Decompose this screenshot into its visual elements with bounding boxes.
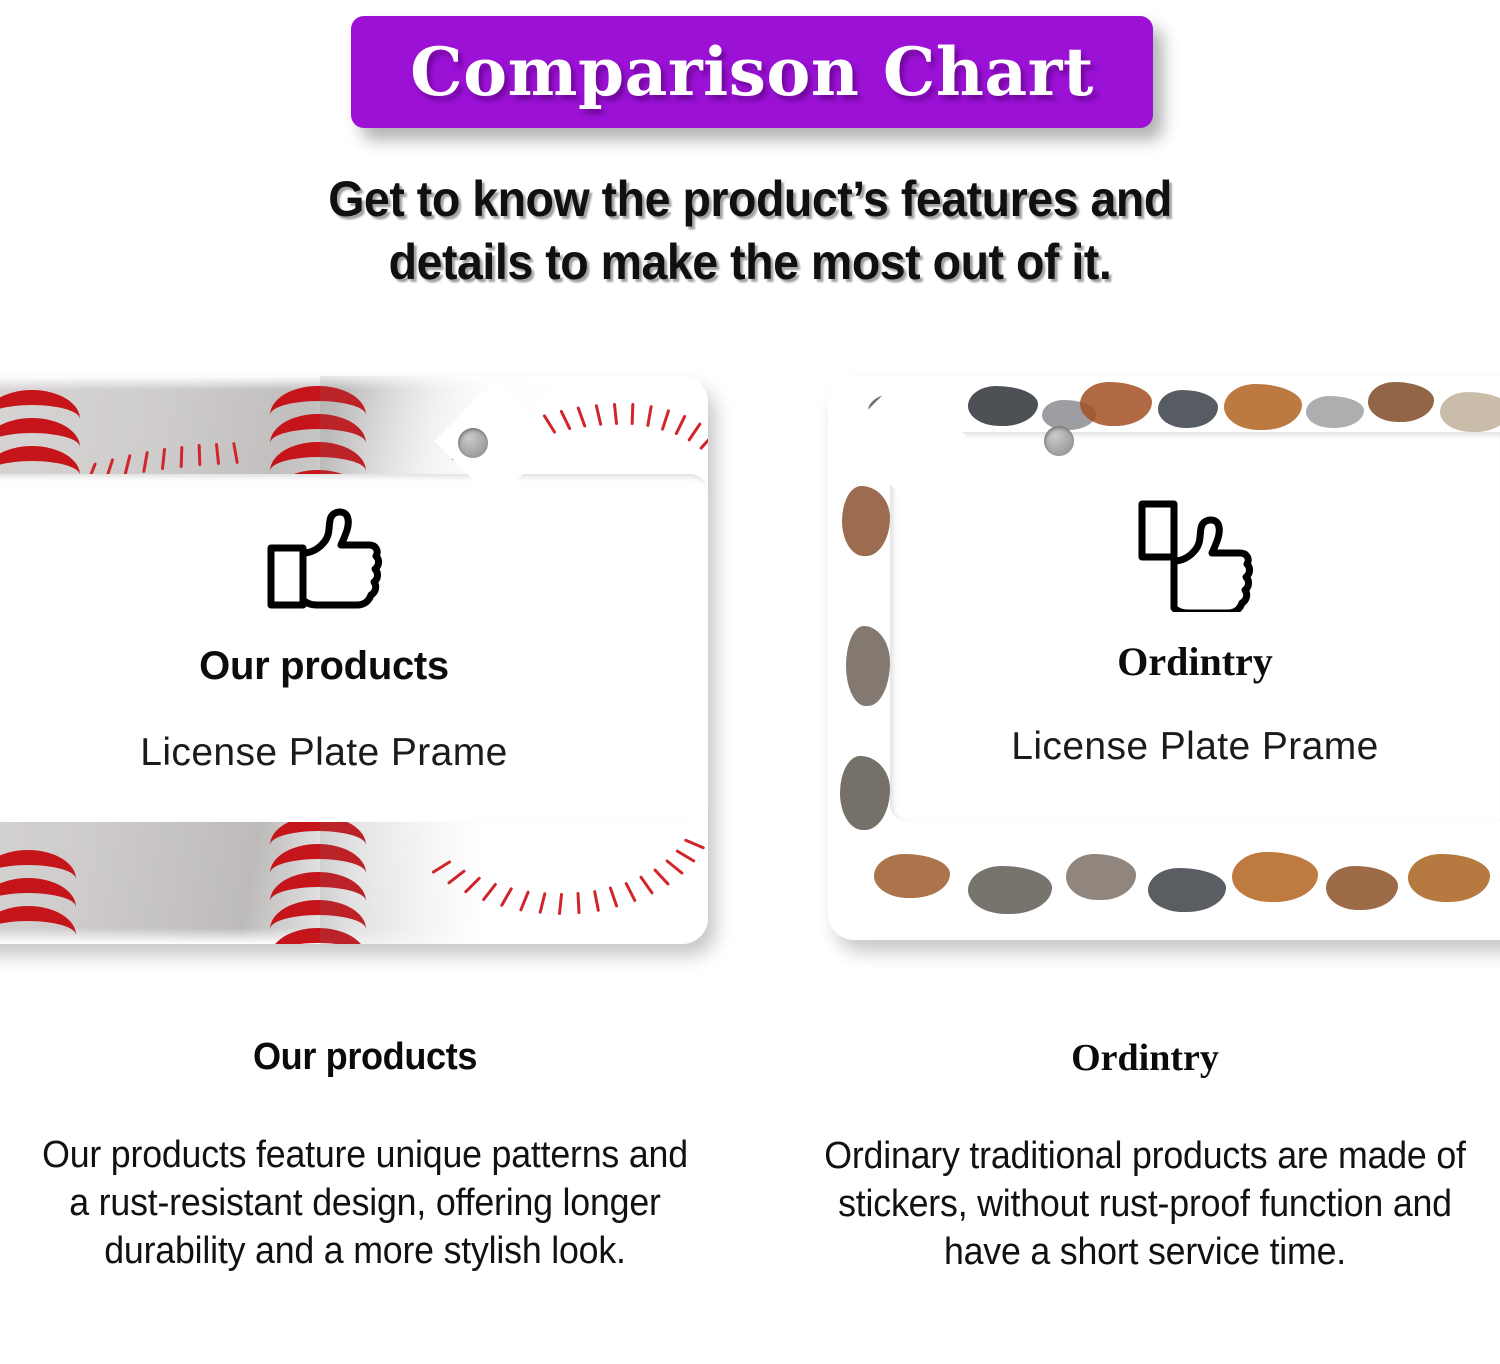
column-heading-ordinary: Ordintry: [800, 1036, 1490, 1080]
rust-flake: [1066, 854, 1136, 900]
subtitle-line-2: details to make the most out of it.: [53, 231, 1448, 294]
description-column-ordinary: Ordintry Ordinary traditional products a…: [800, 1036, 1490, 1276]
rust-flake: [1232, 852, 1318, 902]
mounting-hole-left: [458, 428, 488, 458]
column-body-ours: Our products feature unique patterns and…: [41, 1131, 690, 1275]
subtitle: Get to know the product’s features and d…: [53, 168, 1448, 294]
mounting-hole-right: [1044, 426, 1074, 456]
rust-flake: [1408, 854, 1490, 902]
title-banner: Comparison Chart: [351, 16, 1153, 128]
caption-block-ordinary: Ordintry License Plate Prame: [890, 500, 1500, 769]
description-column-ours: Our products Our products feature unique…: [20, 1036, 710, 1275]
plate-subtitle-ours: License Plate Prame: [0, 731, 708, 775]
column-heading-ours: Our products: [37, 1036, 693, 1079]
plate-subtitle-ordinary: License Plate Prame: [890, 725, 1500, 769]
thumbs-up-icon: [265, 506, 383, 614]
subtitle-line-1: Get to know the product’s features and: [53, 168, 1448, 231]
rust-flake: [846, 626, 890, 706]
rust-flake: [968, 386, 1038, 426]
rust-flake: [1148, 868, 1226, 912]
rust-flake: [1306, 396, 1364, 428]
caption-block-ours: Our products License Plate Prame: [0, 506, 708, 775]
baseball-seam-fine-bottom: [440, 828, 708, 938]
thumbs-down-icon: [1136, 500, 1254, 612]
plate-title-ordinary: Ordintry: [890, 638, 1500, 685]
baseball-seam-large-bottom-left: [0, 846, 92, 944]
page-title: Comparison Chart: [410, 33, 1094, 111]
plate-title-ours: Our products: [0, 644, 708, 689]
rust-flake: [968, 866, 1052, 914]
rust-flake: [840, 756, 890, 830]
rust-flake: [1080, 382, 1152, 426]
rust-flake: [1368, 382, 1434, 422]
rust-flake: [874, 854, 950, 898]
rust-flake: [1440, 392, 1500, 432]
rust-flake: [1224, 384, 1302, 430]
column-body-ordinary: Ordinary traditional products are made o…: [821, 1132, 1470, 1276]
rust-flake: [842, 486, 890, 556]
rust-flake: [1158, 390, 1218, 428]
rust-flake: [1326, 866, 1398, 910]
